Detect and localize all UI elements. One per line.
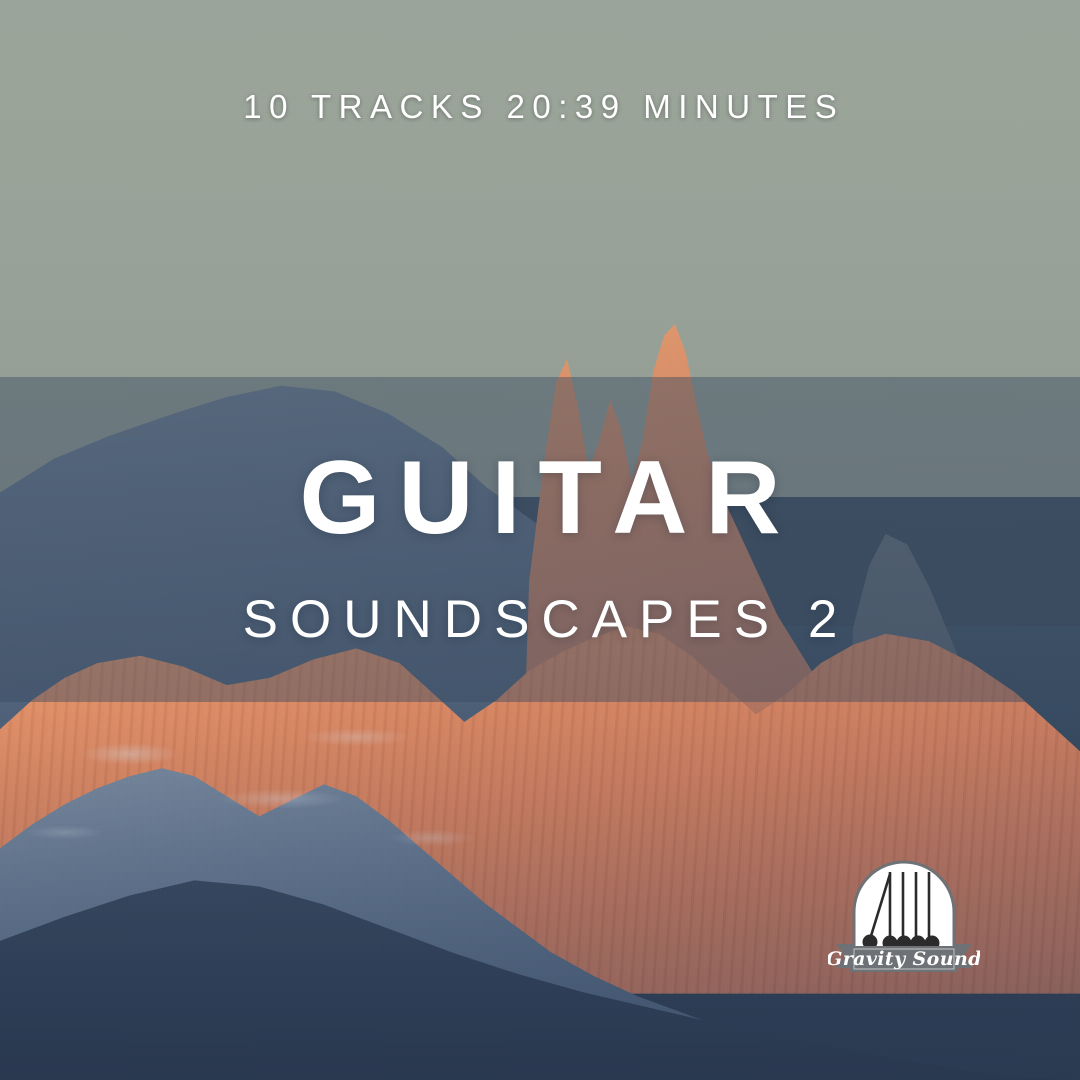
gravity-sound-logo[interactable]: Gravity Sound	[828, 858, 980, 980]
logo-wordmark: Gravity Sound	[828, 948, 980, 970]
track-count-duration-label: 10 TRACKS 20:39 MINUTES	[0, 88, 1080, 126]
page-title: GUITAR	[0, 443, 1080, 553]
album-subtitle: SOUNDSCAPES 2	[0, 589, 1080, 650]
album-cover: 10 TRACKS 20:39 MINUTES GUITAR SOUNDSCAP…	[0, 0, 1080, 1080]
